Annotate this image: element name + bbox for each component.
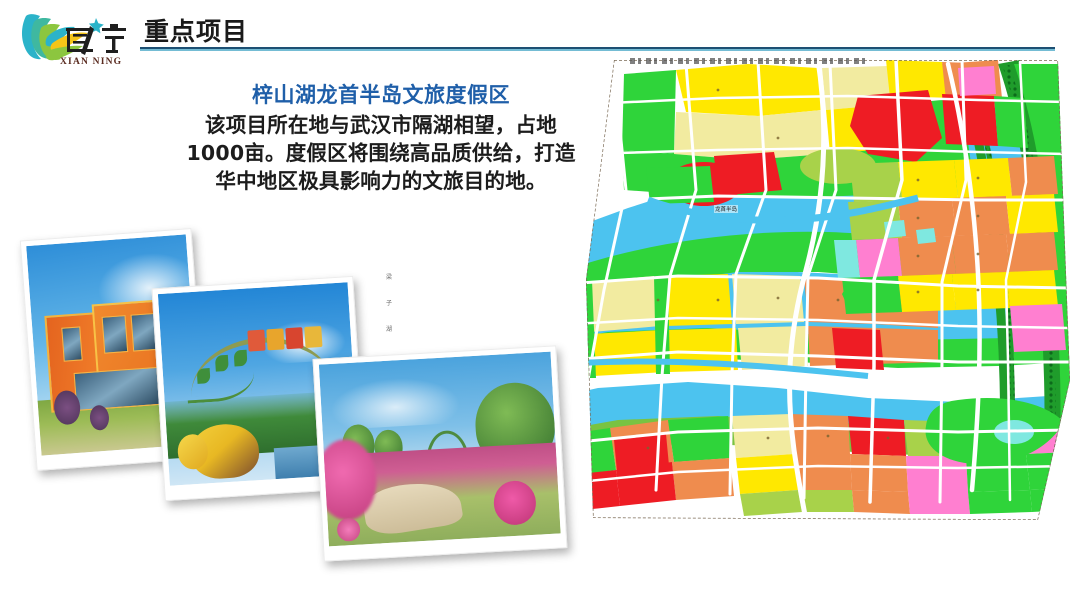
map-side-label: 梁子湖	[386, 265, 396, 343]
window	[61, 326, 83, 361]
parcel-public-red	[832, 328, 884, 370]
map-title-strip	[630, 58, 870, 64]
logo-pinyin-text: XIAN NING	[60, 57, 122, 67]
arch-sign-tile	[305, 326, 323, 348]
photo-rose-garden[interactable]	[313, 345, 568, 561]
arch-sign-tile	[248, 330, 266, 352]
arch-sign-tile	[267, 329, 285, 351]
xianning-city-logo: XIAN NING	[10, 6, 134, 68]
photo-rose-garden-image	[319, 352, 561, 547]
arch-sign-tile	[286, 327, 304, 349]
ground-floor-glazing	[74, 367, 160, 411]
map-poi-label: 龙首半岛	[714, 205, 738, 213]
cloud	[329, 375, 461, 429]
page-title: 重点项目	[144, 12, 248, 48]
window	[102, 315, 129, 354]
